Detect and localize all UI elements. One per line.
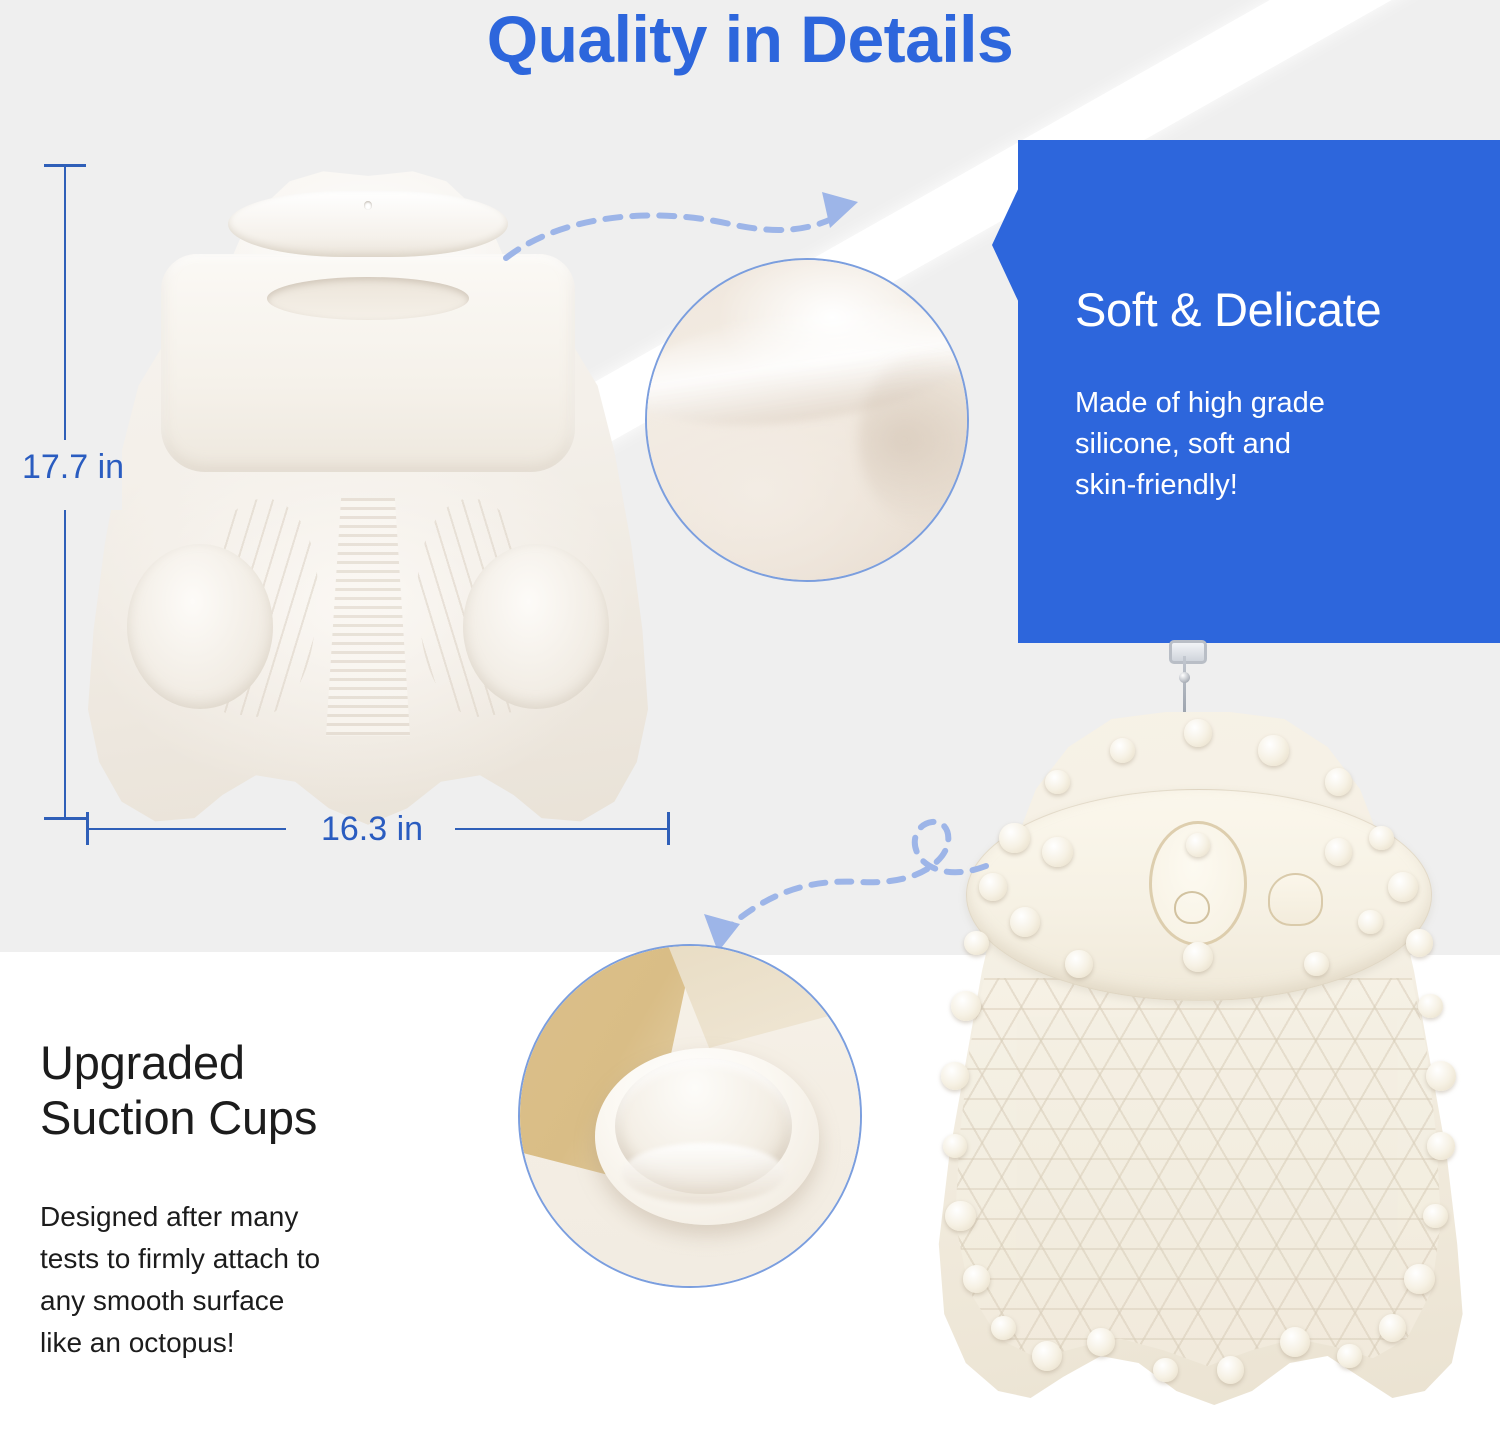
- pillow-lobe-left: [127, 544, 273, 709]
- suction-cup: [1426, 1061, 1456, 1091]
- pillow-honeycomb-pattern: [955, 978, 1441, 1370]
- hook-bead: [1179, 672, 1190, 683]
- suction-cup: [1423, 1204, 1448, 1229]
- suction-cup: [1325, 838, 1353, 865]
- soft-delicate-body: Made of high grade silicone, soft and sk…: [1075, 383, 1405, 507]
- suction-cup: [1337, 1344, 1362, 1369]
- product-front-view: [88, 168, 648, 828]
- suction-cup: [941, 1062, 969, 1089]
- suction-cup: [1184, 719, 1212, 746]
- suction-cup: [1404, 1264, 1434, 1294]
- suction-cup: [1427, 1132, 1455, 1159]
- hook-clip: [1169, 640, 1207, 664]
- pillow-neck-groove: [267, 277, 469, 320]
- suction-cup: [964, 931, 989, 956]
- width-dimension-line-right: [455, 828, 670, 830]
- width-dimension-label: 16.3 in: [288, 810, 456, 849]
- suction-cup: [1406, 929, 1434, 956]
- suction-cup: [979, 873, 1007, 900]
- suction-cup: [999, 823, 1029, 853]
- width-dimension-cap-left: [86, 812, 89, 845]
- suction-cup: [945, 1201, 975, 1231]
- suction-cup: [1153, 1358, 1178, 1383]
- suction-cup: [963, 1265, 991, 1292]
- suction-cup: [1369, 826, 1394, 851]
- suction-cup: [1258, 735, 1288, 765]
- width-dimension-line-left: [86, 828, 286, 830]
- suction-cup: [1183, 942, 1213, 972]
- suction-cup: [1379, 1314, 1407, 1341]
- suction-cup-closeup-callout: [518, 944, 862, 1288]
- pillow-lobe-right: [463, 544, 609, 709]
- height-dimension-cap-top: [44, 164, 86, 167]
- suction-cup: [991, 1316, 1016, 1341]
- suction-cup: [951, 991, 981, 1021]
- suction-cup: [1110, 738, 1135, 763]
- pillow-vent-hole: [364, 201, 372, 210]
- suction-cups-heading: Upgraded Suction Cups: [40, 1035, 460, 1146]
- suction-cups-body: Designed after many tests to firmly atta…: [40, 1196, 440, 1364]
- suction-cup: [1042, 837, 1072, 867]
- width-dimension-cap-right: [667, 812, 670, 845]
- closeup-cup-rim: [622, 1143, 785, 1204]
- suction-cup: [1325, 768, 1353, 795]
- page-title: Quality in Details: [0, 6, 1500, 72]
- suction-cup: [1418, 994, 1443, 1019]
- height-dimension-label: 17.7 in: [8, 448, 138, 487]
- blue-panel-pointer-icon: [992, 185, 1020, 305]
- hook-stem: [1183, 656, 1186, 718]
- soft-delicate-heading: Soft & Delicate: [1075, 285, 1475, 334]
- pillow-logo-glyph: [1174, 891, 1210, 924]
- soft-surface-closeup-callout: [645, 258, 969, 582]
- suction-cup: [1087, 1328, 1115, 1355]
- pillow-valve-imprint: [1268, 873, 1323, 926]
- suction-cup: [1217, 1356, 1245, 1383]
- height-dimension-cap-bottom: [44, 817, 86, 820]
- suction-cup: [1045, 770, 1070, 795]
- suction-cup: [1065, 950, 1093, 977]
- suction-cup: [1032, 1341, 1062, 1371]
- product-back-view: [928, 712, 1468, 1412]
- infographic-canvas: Quality in Details 17.7 in 16.3 in Soft …: [0, 0, 1500, 1448]
